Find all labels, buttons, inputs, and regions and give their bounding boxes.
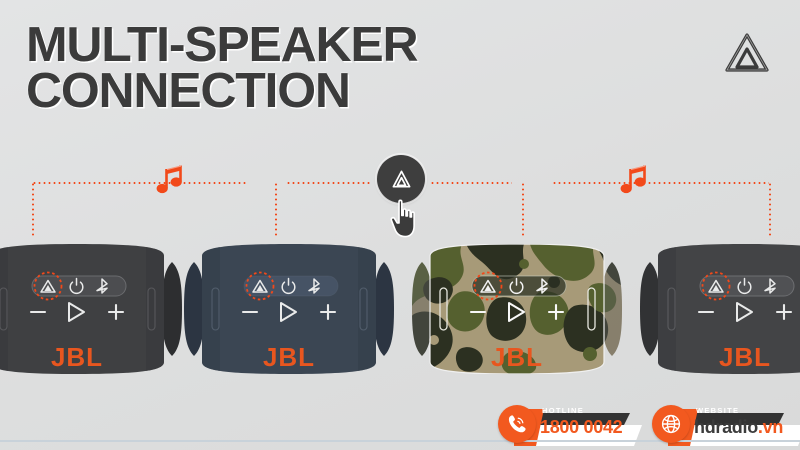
infographic-canvas: MULTI-SPEAKER CONNECTION xyxy=(0,0,800,450)
globe-icon xyxy=(652,405,690,443)
hand-pointer-cursor-icon xyxy=(386,198,420,240)
website-caption: WEBSITE xyxy=(696,406,739,415)
connector-drop-speaker-4 xyxy=(769,182,771,238)
connector-line-top-left2 xyxy=(286,182,371,184)
hotline-number[interactable]: 1800 0042 xyxy=(540,417,622,438)
speaker-4[interactable]: JBL xyxy=(632,244,800,374)
connector-drop-speaker-1 xyxy=(32,182,34,238)
phone-icon xyxy=(498,405,536,443)
website-url-tld: .vn xyxy=(758,417,783,437)
website-url-main: hdradio xyxy=(694,417,758,437)
music-note-left-icon xyxy=(156,164,186,200)
website-url[interactable]: hdradio.vn xyxy=(694,417,783,438)
speaker-1[interactable]: JBL xyxy=(0,244,190,374)
hotline-caption: HOTLINE xyxy=(542,406,584,415)
page-title: MULTI-SPEAKER CONNECTION xyxy=(26,22,556,114)
connector-drop-speaker-3 xyxy=(522,182,524,238)
connector-line-top-left xyxy=(32,182,247,184)
music-note-right-icon xyxy=(620,164,650,200)
connector-drop-speaker-2 xyxy=(275,182,277,238)
connector-line-top-right2 xyxy=(552,182,769,184)
svg-text:JBL: JBL xyxy=(719,342,771,372)
auracast-hub-button[interactable] xyxy=(377,155,425,203)
connector-line-top-right xyxy=(430,182,512,184)
svg-text:JBL: JBL xyxy=(491,342,543,372)
svg-text:JBL: JBL xyxy=(263,342,315,372)
svg-text:JBL: JBL xyxy=(51,342,103,372)
speaker-3[interactable]: JBL xyxy=(404,244,630,374)
speaker-2[interactable]: JBL xyxy=(176,244,402,374)
auracast-logo xyxy=(716,22,778,84)
